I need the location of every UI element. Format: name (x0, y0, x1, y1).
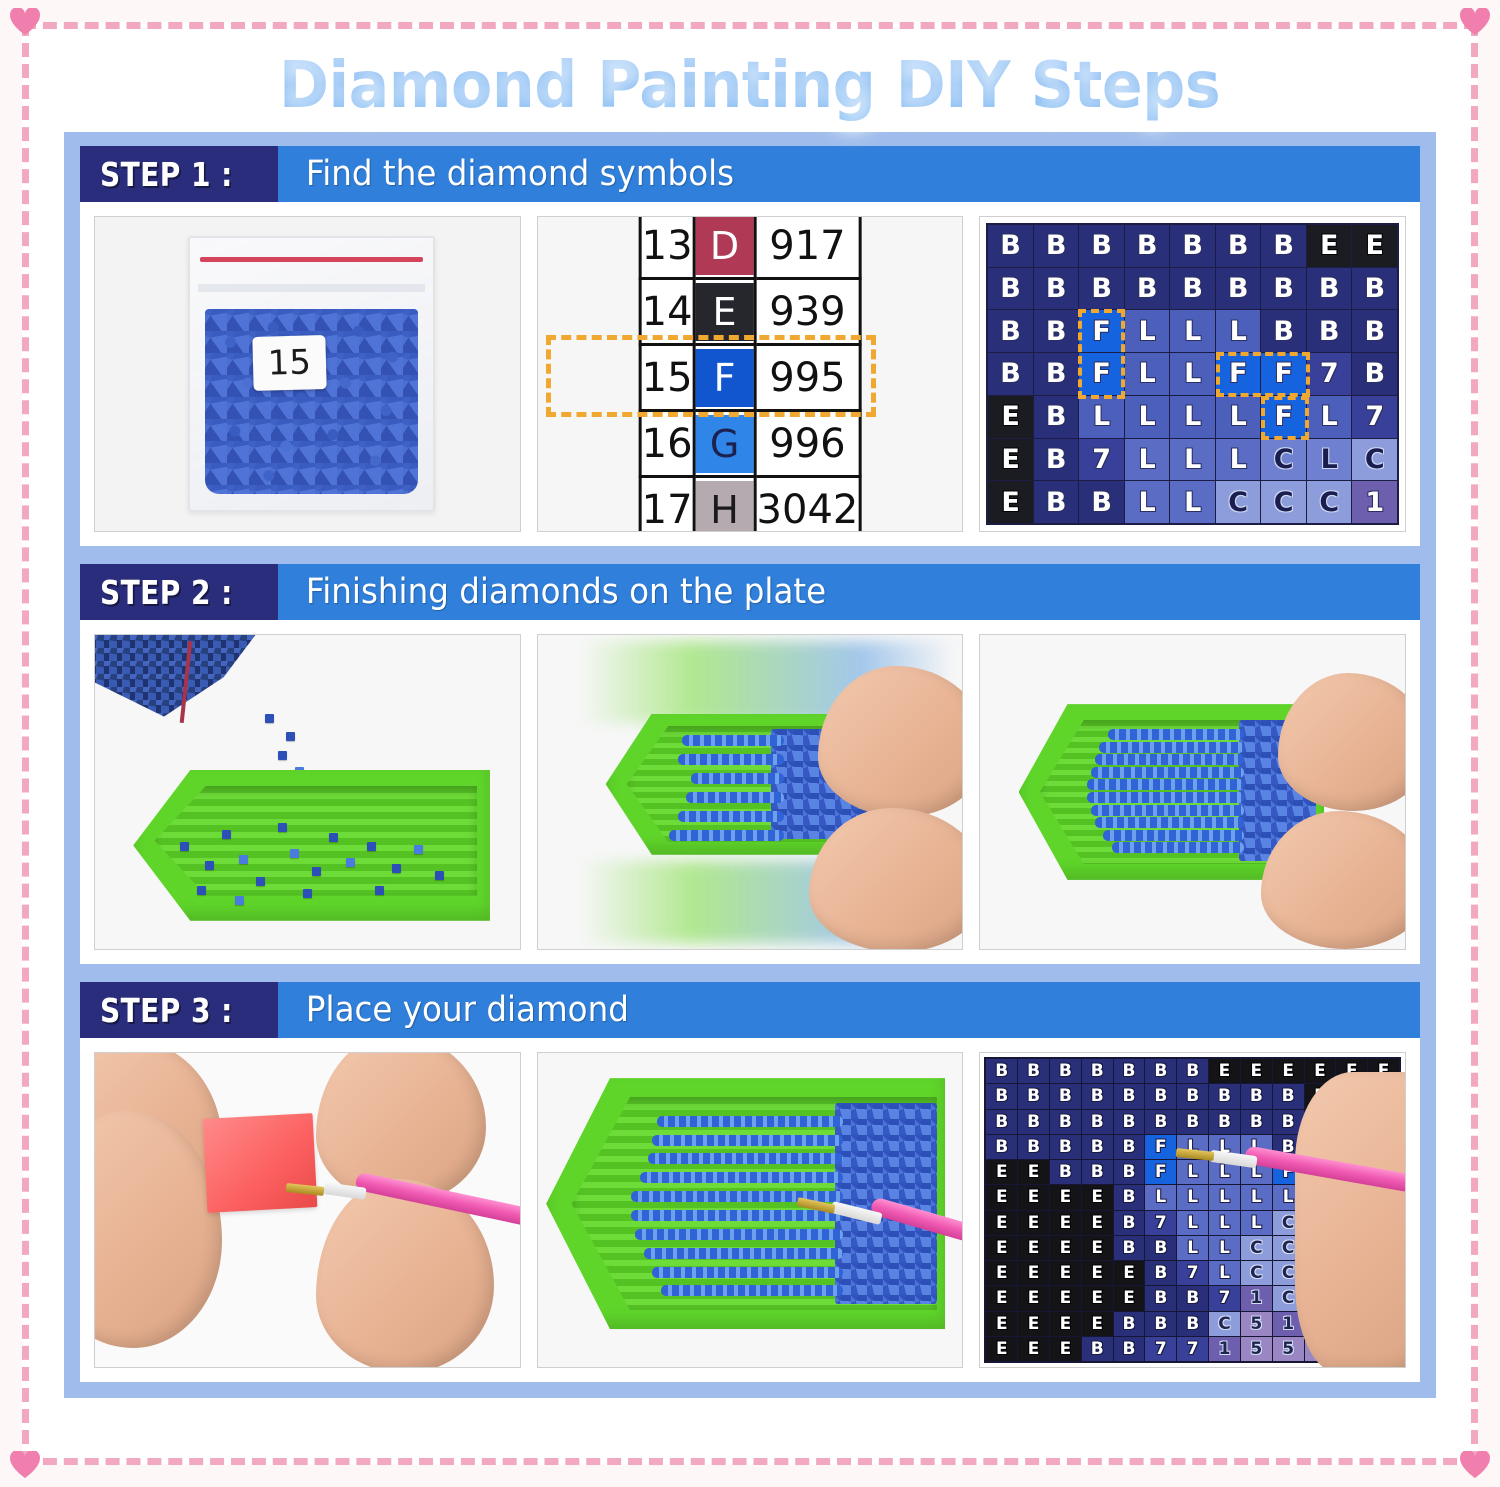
grid-cell: B (1114, 1059, 1145, 1083)
grid-cell: E (988, 439, 1033, 481)
grid-cell: L (1170, 481, 1215, 523)
hand-holding-pen (1295, 1072, 1406, 1368)
grid-cell: E (1352, 225, 1397, 267)
grid-cell: B (1145, 1236, 1176, 1260)
legend-row: 13D917 (640, 216, 860, 279)
grid-cell: B (1145, 1059, 1176, 1083)
grid-cell: B (1114, 1185, 1145, 1209)
grid-cell: 7 (1079, 439, 1124, 481)
grid-cell: B (1241, 1110, 1272, 1134)
grid-cell: 7 (1352, 396, 1397, 438)
step-3-body: BBBBBBBEEEEEEBBBBBBBBBBEBEBBBBBBBBBBBBBB… (80, 1038, 1420, 1382)
grid-cell: E (1307, 225, 1352, 267)
grid-cell: C (1216, 481, 1261, 523)
grid-cell: L (1145, 1185, 1176, 1209)
pen-wax-dip-photo (94, 1052, 521, 1368)
grid-cell: L (1209, 1261, 1240, 1285)
grid-cell: B (1145, 1084, 1176, 1108)
grid-cell: 5 (1241, 1337, 1272, 1361)
grid-cell: B (1082, 1059, 1113, 1083)
canvas-symbol-grid: BBBBBBBEEBBBBBBBBBBBFLLLBBBBBFLLFF7BEBLL… (986, 223, 1399, 525)
grid-cell: 7 (1145, 1337, 1176, 1361)
grid-cell: B (1170, 225, 1215, 267)
instruction-sheet: Diamond Painting DIY Steps STEP 1 : Find… (46, 40, 1454, 1442)
legend-symbol-cell: F (694, 345, 755, 411)
grid-cell: B (1114, 1135, 1145, 1159)
grid-cell: C (1261, 439, 1306, 481)
heart-icon (1460, 1451, 1490, 1479)
step-2-body (80, 620, 1420, 964)
grid-cell: B (1273, 1084, 1304, 1108)
page-title-text: Diamond Painting DIY Steps (279, 49, 1220, 123)
grid-cell: L (1170, 310, 1215, 352)
grid-cell: B (988, 225, 1033, 267)
step-2-title: Finishing diamonds on the plate (278, 564, 826, 620)
grid-cell: B (988, 310, 1033, 352)
grid-cell: E (1018, 1261, 1049, 1285)
grid-cell: L (1125, 396, 1170, 438)
grid-cell: B (1114, 1110, 1145, 1134)
grid-cell: B (1034, 481, 1079, 523)
symbol-color-chip: E (696, 283, 754, 341)
legend-symbol-cell: H (694, 477, 755, 533)
grid-cell: B (1145, 1261, 1176, 1285)
grid-cell: B (986, 1084, 1017, 1108)
grid-cell: L (1177, 1160, 1208, 1184)
legend-symbol-cell: E (694, 279, 755, 345)
grid-cell: 1 (1352, 481, 1397, 523)
heart-icon (1460, 8, 1490, 36)
step-1: STEP 1 : Find the diamond symbols 15 (80, 146, 1420, 546)
grid-cell: E (986, 1312, 1017, 1336)
grid-cell: E (1082, 1211, 1113, 1235)
grid-cell: E (986, 1185, 1017, 1209)
grid-cell: B (1034, 353, 1079, 395)
heart-icon (10, 8, 40, 36)
grid-cell: E (1209, 1059, 1240, 1083)
symbol-color-chip: G (696, 415, 754, 473)
tray-groove-area (154, 786, 477, 896)
legend-row: 16G996 (640, 411, 860, 477)
grid-cell: B (1050, 1059, 1081, 1083)
grid-cell: B (1170, 268, 1215, 310)
grid-cell: B (988, 268, 1033, 310)
grid-cell: 5 (1241, 1312, 1272, 1336)
grid-cell: E (1018, 1337, 1049, 1361)
grid-cell: C (1261, 481, 1306, 523)
step-3-title: Place your diamond (278, 982, 629, 1038)
grid-cell: L (1216, 310, 1261, 352)
grid-cell: B (1018, 1084, 1049, 1108)
grid-cell: E (1114, 1261, 1145, 1285)
ziplock-bag: 15 (188, 236, 434, 512)
step-3-badge: STEP 3 : (80, 982, 278, 1038)
grid-cell: 1 (1209, 1337, 1240, 1361)
grid-cell: E (1050, 1236, 1081, 1260)
legend-index-cell: 15 (640, 345, 694, 411)
grid-cell: E (1050, 1261, 1081, 1285)
grid-cell: E (1018, 1312, 1049, 1336)
grid-cell: E (1050, 1211, 1081, 1235)
grid-cell: B (1145, 1110, 1176, 1134)
grid-cell: B (1241, 1084, 1272, 1108)
aligned-diamonds-tray-photo (979, 634, 1406, 950)
grid-cell: B (1177, 1286, 1208, 1310)
grid-cell: E (1082, 1286, 1113, 1310)
page-title: Diamond Painting DIY Steps (46, 40, 1454, 132)
grid-cell: E (988, 396, 1033, 438)
grid-cell: B (1125, 225, 1170, 267)
grid-cell: F (1145, 1135, 1176, 1159)
grid-cell: E (986, 1261, 1017, 1285)
step-1-title: Find the diamond symbols (278, 146, 734, 202)
grid-cell: B (986, 1110, 1017, 1134)
grid-cell: B (1209, 1084, 1240, 1108)
grid-cell: B (1114, 1337, 1145, 1361)
grid-cell: B (988, 353, 1033, 395)
grid-cell: B (1050, 1084, 1081, 1108)
grid-cell: L (1209, 1211, 1240, 1235)
legend-dmc-code-cell: 3042 (755, 477, 860, 533)
step-2-badge-label: STEP 2 : (100, 573, 233, 612)
grid-cell: E (1018, 1185, 1049, 1209)
shake-tray-photo (537, 634, 964, 950)
symbol-color-chip: H (696, 481, 754, 533)
grid-cell: E (1082, 1312, 1113, 1336)
grid-cell: L (1125, 481, 1170, 523)
step-2-badge: STEP 2 : (80, 564, 278, 620)
legend-symbol-cell: D (694, 216, 755, 279)
legend-row: 15F995 (640, 345, 860, 411)
grid-cell: 7 (1145, 1211, 1176, 1235)
legend-index-cell: 14 (640, 279, 694, 345)
grid-cell: B (1261, 268, 1306, 310)
step-3: STEP 3 : Place your diamond (80, 982, 1420, 1382)
grid-cell: 7 (1177, 1337, 1208, 1361)
grid-cell: B (1114, 1211, 1145, 1235)
place-diamond-on-canvas-photo: BBBBBBBEEEEEEBBBBBBBBBBEBEBBBBBBBBBBBBBB… (979, 1052, 1406, 1368)
symbol-legend-table: 13D91714E93915F99516G99617H3042 (639, 216, 862, 532)
bag-number-label: 15 (253, 335, 327, 391)
grid-cell: E (986, 1286, 1017, 1310)
grid-cell: E (1114, 1286, 1145, 1310)
legend-dmc-code-cell: 995 (755, 345, 860, 411)
grid-cell: C (1352, 439, 1397, 481)
grid-cell: 1 (1241, 1286, 1272, 1310)
hand-holding-tray (1278, 673, 1406, 811)
grid-cell: 7 (1177, 1261, 1208, 1285)
grid-cell: E (1050, 1312, 1081, 1336)
grid-cell: B (1114, 1312, 1145, 1336)
grid-cell: F (1079, 353, 1124, 395)
grid-cell: E (1018, 1236, 1049, 1260)
bag-zip-track (198, 284, 426, 292)
grid-cell: F (1261, 396, 1306, 438)
grid-cell: L (1177, 1185, 1208, 1209)
grid-cell: L (1177, 1211, 1208, 1235)
grid-cell: E (1018, 1286, 1049, 1310)
step-2-header: STEP 2 : Finishing diamonds on the plate (80, 564, 1420, 620)
grid-cell: L (1307, 396, 1352, 438)
step-1-header: STEP 1 : Find the diamond symbols (80, 146, 1420, 202)
grid-cell: B (1114, 1236, 1145, 1260)
diamond-bag-photo: 15 (94, 216, 521, 532)
grid-cell: E (988, 481, 1033, 523)
legend-row: 17H3042 (640, 477, 860, 533)
grid-cell: F (1079, 310, 1124, 352)
grid-cell: B (1082, 1084, 1113, 1108)
grid-cell: B (1050, 1110, 1081, 1134)
steps-panel: STEP 1 : Find the diamond symbols 15 (64, 132, 1436, 1398)
grid-cell: E (1050, 1185, 1081, 1209)
grid-cell: L (1241, 1211, 1272, 1235)
grid-cell: 7 (1209, 1286, 1240, 1310)
grid-cell: B (1034, 225, 1079, 267)
grid-cell: B (1352, 310, 1397, 352)
grid-cell: E (1241, 1059, 1272, 1083)
grid-cell: B (1034, 439, 1079, 481)
step-3-header: STEP 3 : Place your diamond (80, 982, 1420, 1038)
grid-cell: C (1241, 1261, 1272, 1285)
step-1-badge: STEP 1 : (80, 146, 278, 202)
grid-cell: L (1079, 396, 1124, 438)
grid-cell: L (1209, 1236, 1240, 1260)
grid-cell: F (1261, 353, 1306, 395)
grid-cell: E (1018, 1211, 1049, 1235)
grid-cell: B (1307, 310, 1352, 352)
grid-cell: L (1216, 396, 1261, 438)
heart-icon (10, 1451, 40, 1479)
bag-zip-seal (200, 257, 423, 262)
legend-row: 14E939 (640, 279, 860, 345)
step-2: STEP 2 : Finishing diamonds on the plate (80, 564, 1420, 964)
grid-cell: B (1050, 1160, 1081, 1184)
grid-cell: B (1307, 268, 1352, 310)
grid-cell: F (1216, 353, 1261, 395)
grid-cell: L (1241, 1185, 1272, 1209)
grid-cell: B (1209, 1110, 1240, 1134)
grid-cell: B (1082, 1160, 1113, 1184)
grid-cell: B (1125, 268, 1170, 310)
grid-cell: B (1145, 1312, 1176, 1336)
pour-diamonds-into-tray-photo (94, 634, 521, 950)
grid-cell: E (986, 1337, 1017, 1361)
grid-cell: B (1082, 1337, 1113, 1361)
legend-index-cell: 13 (640, 216, 694, 279)
grid-cell: B (1034, 310, 1079, 352)
grid-cell: B (1079, 225, 1124, 267)
grid-cell: B (1114, 1160, 1145, 1184)
grid-cell: L (1177, 1236, 1208, 1260)
pink-wax-square (203, 1113, 318, 1213)
legend-dmc-code-cell: 917 (755, 216, 860, 279)
grid-cell: B (1034, 268, 1079, 310)
symbol-color-chip: D (696, 217, 754, 275)
legend-dmc-code-cell: 939 (755, 279, 860, 345)
grid-cell: B (1177, 1059, 1208, 1083)
grid-cell: B (986, 1135, 1017, 1159)
grid-cell: L (1170, 396, 1215, 438)
grid-cell: L (1209, 1185, 1240, 1209)
grid-cell: B (1177, 1110, 1208, 1134)
grid-cell: E (986, 1211, 1017, 1235)
grid-cell: B (1018, 1110, 1049, 1134)
grid-cell: E (1050, 1286, 1081, 1310)
grid-cell: L (1307, 439, 1352, 481)
grid-cell: 5 (1273, 1337, 1304, 1361)
grid-cell: B (1018, 1135, 1049, 1159)
grid-cell: B (1114, 1084, 1145, 1108)
grid-cell: L (1170, 353, 1215, 395)
grid-cell: B (1145, 1286, 1176, 1310)
grid-cell: C (1241, 1236, 1272, 1260)
grid-cell: E (1082, 1236, 1113, 1260)
grid-cell: L (1125, 439, 1170, 481)
grid-cell: B (1177, 1084, 1208, 1108)
grid-cell: E (1018, 1160, 1049, 1184)
grid-cell: B (1261, 310, 1306, 352)
legend-index-cell: 16 (640, 411, 694, 477)
symbol-color-chip: F (696, 349, 754, 407)
step-3-badge-label: STEP 3 : (100, 991, 233, 1030)
grid-cell: B (1352, 268, 1397, 310)
grid-cell: B (986, 1059, 1017, 1083)
grid-cell: F (1145, 1160, 1176, 1184)
grid-cell: L (1125, 310, 1170, 352)
grid-cell: C (1307, 481, 1352, 523)
grid-cell: E (1082, 1185, 1113, 1209)
grid-cell: L (1216, 439, 1261, 481)
bag-opening-spill (94, 634, 265, 717)
grid-cell: B (1050, 1135, 1081, 1159)
grid-cell: E (986, 1160, 1017, 1184)
grid-cell: E (1273, 1059, 1304, 1083)
symbol-legend-table-photo: 13D91714E93915F99516G99617H3042 (537, 216, 964, 532)
grid-cell: B (1079, 268, 1124, 310)
grid-cell: B (1034, 396, 1079, 438)
step-1-body: 15 13D91714E93915F99516G99617H3042 BBBBB… (80, 202, 1420, 546)
grid-cell: B (1082, 1110, 1113, 1134)
grid-cell: L (1170, 439, 1215, 481)
grid-cell: C (1209, 1312, 1240, 1336)
legend-dmc-code-cell: 996 (755, 411, 860, 477)
grid-cell: B (1261, 225, 1306, 267)
grid-cell: B (1352, 353, 1397, 395)
grid-cell: B (1216, 268, 1261, 310)
grid-cell: E (1050, 1337, 1081, 1361)
pen-pickup-diamond-photo (537, 1052, 964, 1368)
grid-cell: E (986, 1236, 1017, 1260)
grid-cell: B (1082, 1135, 1113, 1159)
step-1-badge-label: STEP 1 : (100, 155, 233, 194)
grid-cell: B (1177, 1312, 1208, 1336)
grid-cell: B (1216, 225, 1261, 267)
grid-cell: 7 (1307, 353, 1352, 395)
grid-cell: L (1125, 353, 1170, 395)
legend-symbol-cell: G (694, 411, 755, 477)
grid-cell: B (1079, 481, 1124, 523)
legend-index-cell: 17 (640, 477, 694, 533)
grid-cell: B (1018, 1059, 1049, 1083)
grid-cell: E (1082, 1261, 1113, 1285)
canvas-symbol-grid-photo: BBBBBBBEEBBBBBBBBBBBFLLLBBBBBFLLFF7BEBLL… (979, 216, 1406, 532)
